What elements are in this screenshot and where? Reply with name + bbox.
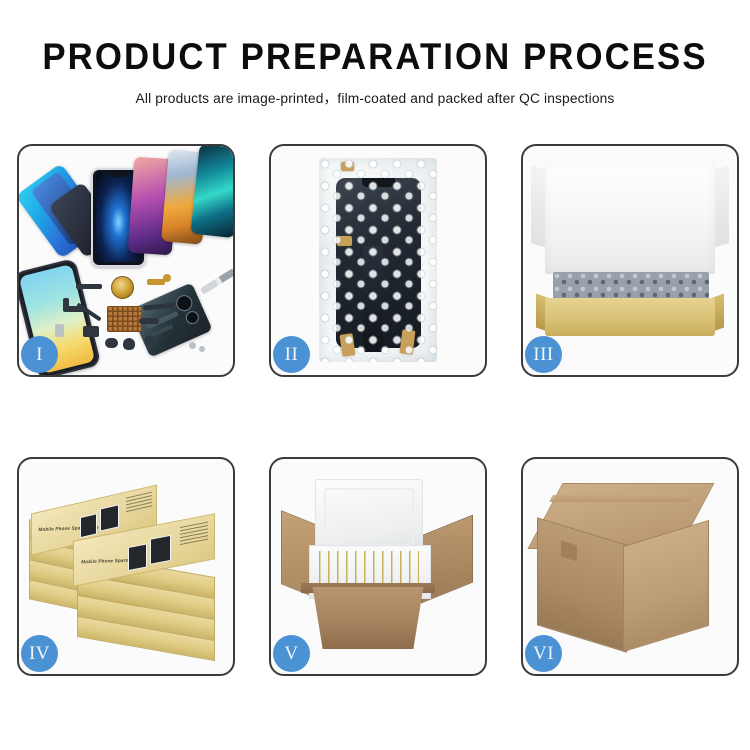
copper-grid-chip xyxy=(107,306,141,332)
step-panel-2: II xyxy=(269,144,487,377)
silver-part xyxy=(55,324,64,337)
box-screen-graphic xyxy=(80,513,97,538)
step-numeral: VI xyxy=(533,643,554,665)
step-panel-4: Mobile Phone Spare Parts Mobile Phone Sp… xyxy=(17,457,235,676)
spare-part-chip xyxy=(83,326,99,337)
yellow-box-front xyxy=(545,298,715,336)
bubble-wrap-bag xyxy=(319,158,437,362)
step-panel-6: VI xyxy=(521,457,739,676)
step-numeral: I xyxy=(36,344,43,366)
box-screen-graphic xyxy=(128,543,147,571)
carton-tape-seam xyxy=(549,495,693,502)
box-screen-graphic xyxy=(150,535,171,565)
step-panel-3: III xyxy=(521,144,739,377)
gold-connector-part xyxy=(163,274,171,282)
bubble-texture xyxy=(319,158,437,362)
styrofoam-lid xyxy=(315,479,423,555)
page-subtitle: All products are image-printed，film-coat… xyxy=(11,88,739,108)
spare-part-chip xyxy=(123,338,135,350)
silver-screw xyxy=(199,346,205,352)
flex-cable-part xyxy=(139,318,159,324)
box-spec-lines xyxy=(180,522,208,546)
spare-part-chip xyxy=(76,284,102,289)
step-numeral: V xyxy=(284,643,298,665)
step-panel-1: I xyxy=(17,144,235,377)
step-numeral: IV xyxy=(29,643,50,665)
spare-part-chip xyxy=(63,298,69,312)
box-screen-graphic xyxy=(100,504,119,531)
step-badge-5: V xyxy=(273,635,310,672)
step-badge-6: VI xyxy=(525,635,562,672)
step-badge-3: III xyxy=(525,336,562,373)
page-root: PRODUCT PREPARATION PROCESS All products… xyxy=(0,0,750,750)
step-numeral: III xyxy=(533,344,553,366)
carton-front-face xyxy=(305,587,431,649)
camera-lens-secondary-icon xyxy=(184,309,201,326)
step-badge-4: IV xyxy=(21,635,58,672)
step-badge-1: I xyxy=(21,336,58,373)
screwdriver-tool xyxy=(200,268,235,294)
spare-part-chip xyxy=(145,336,154,345)
page-title: PRODUCT PREPARATION PROCESS xyxy=(23,38,728,77)
box-spec-lines xyxy=(126,492,152,515)
gold-coil-part xyxy=(111,276,134,299)
white-foam-lid xyxy=(545,162,715,274)
gold-connector-part xyxy=(147,279,165,285)
step-numeral: II xyxy=(285,344,299,366)
spare-part-chip xyxy=(105,338,118,348)
step-badge-2: II xyxy=(273,336,310,373)
silver-screw xyxy=(189,342,196,349)
box-stack: Mobile Phone Spare Parts Mobile Phone Sp… xyxy=(27,475,223,655)
step-panel-5: V xyxy=(269,457,487,676)
